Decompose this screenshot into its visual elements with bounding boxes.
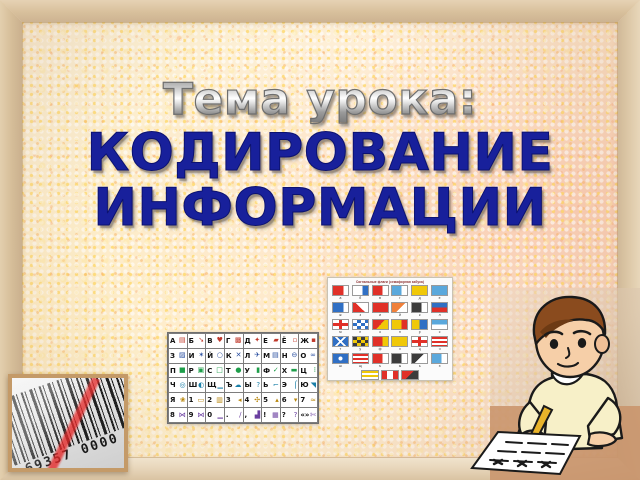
signal-flag-chart: Сигнальные флаги (семафорная азбука) абв… — [327, 277, 453, 381]
encoding-character: Й — [207, 352, 213, 360]
encoding-character: 1 — [189, 396, 194, 404]
encoding-cell: Е▰ — [262, 334, 281, 349]
flag-cell: х — [391, 336, 410, 352]
encoding-symbol-icon: ▫ — [293, 337, 298, 344]
encoding-symbol-icon: ▭ — [198, 397, 205, 404]
encoding-cell: 6▾ — [280, 393, 299, 408]
flag-cell: с — [430, 319, 449, 335]
encoding-symbol-icon: ▁ — [217, 412, 222, 419]
flag-cell: п — [391, 319, 410, 335]
encoding-symbol-icon: ≈ — [310, 397, 316, 404]
encoding-character: . — [226, 411, 229, 419]
encoding-character: Н — [282, 352, 288, 360]
encoding-character: Е — [263, 337, 268, 345]
encoding-cell: Й○ — [206, 348, 225, 363]
encoding-symbol-icon: ⁞ — [314, 367, 316, 374]
encoding-symbol-icon: ▨ — [179, 352, 186, 359]
flag-swatch-icon — [411, 302, 428, 313]
encoding-symbol-icon: ▤ — [179, 337, 186, 344]
encoding-cell: З▨ — [169, 348, 188, 363]
flag-swatch-icon — [431, 336, 448, 347]
flag-swatch-icon — [372, 353, 389, 364]
barcode-gloss — [12, 378, 124, 468]
title-line-2: ИНФОРМАЦИИ — [0, 181, 640, 236]
encoding-row: З▨И✶Й○К✕Л✈М▤Н⊖О∞ — [169, 348, 318, 363]
encoding-symbol-icon: ⊖ — [292, 352, 298, 359]
flag-grid: абвгдежзийклмнопрстуфхцчшщъыьэ — [331, 285, 449, 369]
flag-swatch-icon — [391, 336, 408, 347]
flag-cell: ъ — [371, 353, 390, 369]
encoding-character: К — [226, 352, 232, 360]
flag-label: к — [419, 313, 420, 318]
encoding-symbol-icon: ⋈ — [179, 412, 186, 419]
flag-label: с — [439, 330, 441, 335]
encoding-character: Б — [189, 337, 194, 345]
flag-swatch-icon — [352, 336, 369, 347]
flag-label: й — [399, 313, 401, 318]
encoding-character: М — [263, 352, 270, 360]
encoding-cell: Ь⌐ — [262, 378, 281, 393]
encoding-symbol-icon: ▁ — [217, 382, 222, 389]
encoding-cell: Щ▁ — [206, 378, 225, 393]
flag-label: и — [379, 313, 381, 318]
encoding-cell: Ч◎ — [169, 378, 188, 393]
flag-label: ц — [419, 347, 421, 352]
flag-swatch-icon — [401, 370, 419, 380]
flag-cell: ж — [331, 302, 350, 318]
flag-cell: ч — [430, 336, 449, 352]
encoding-cell: Т● — [224, 363, 243, 378]
encoding-character: Щ — [207, 381, 216, 389]
encoding-symbol-icon: ➘ — [198, 337, 204, 344]
flag-swatch-icon — [391, 285, 408, 296]
flag-label: н — [359, 330, 361, 335]
encoding-cell: Ф✓ — [262, 363, 281, 378]
encoding-character: З — [170, 352, 175, 360]
encoding-symbol-icon: ▰ — [273, 337, 278, 344]
title-eyebrow: Тема урока: — [163, 78, 477, 122]
flag-label: ф — [379, 347, 382, 352]
flag-swatch-icon — [381, 370, 399, 380]
frame-top-bevel — [0, 0, 640, 22]
encoding-cell: .∕ — [224, 408, 243, 423]
flag-cell: ц — [410, 336, 429, 352]
encoding-cell: Ё▫ — [280, 334, 299, 349]
flag-cell: д — [410, 285, 429, 301]
flag-cell: г — [391, 285, 410, 301]
encoding-cell: Ш◐ — [187, 378, 206, 393]
flag-swatch-icon — [361, 370, 379, 380]
flag-swatch-icon — [352, 302, 369, 313]
encoding-cell: Я❀ — [169, 393, 188, 408]
encoding-cell: У▮ — [243, 363, 262, 378]
flag-swatch-icon — [411, 319, 428, 330]
encoding-character: Ы — [245, 381, 252, 389]
title-main: КОДИРОВАНИЕ ИНФОРМАЦИИ — [0, 126, 640, 236]
encoding-cell: К✕ — [224, 348, 243, 363]
encoding-character: 7 — [300, 396, 305, 404]
encoding-symbol-icon: ■ — [179, 367, 186, 374]
flag-label: ь — [419, 364, 421, 369]
flag-swatch-icon — [391, 319, 408, 330]
flag-label: у — [359, 347, 361, 352]
encoding-symbol-icon: ◥ — [311, 382, 316, 389]
encoding-cell: Ц⁞ — [299, 363, 318, 378]
flag-swatch-icon — [431, 302, 448, 313]
title-line-1: КОДИРОВАНИЕ — [0, 126, 640, 181]
encoding-cell: 7≈ — [299, 393, 318, 408]
flag-label: л — [439, 313, 441, 318]
encoding-character: П — [170, 367, 176, 375]
flag-swatch-icon — [332, 302, 349, 313]
encoding-character: И — [189, 352, 195, 360]
encoding-character: ! — [263, 411, 266, 419]
encoding-character: Р — [189, 367, 194, 375]
flag-cell: ы — [391, 353, 410, 369]
encoding-row: А▤Б➘В♥Г▩Д✦Е▰Ё▫Ж▪ — [169, 334, 318, 349]
barcode-photo: 69357 0000 — [8, 374, 128, 472]
encoding-cell: А▤ — [169, 334, 188, 349]
encoding-cell: 2▥ — [206, 393, 225, 408]
encoding-cell: 0▁ — [206, 408, 225, 423]
slide-canvas: Тема урока: КОДИРОВАНИЕ ИНФОРМАЦИИ 69357… — [0, 0, 640, 480]
encoding-cell: Э⌠ — [280, 378, 299, 393]
flag-label: х — [399, 347, 401, 352]
flag-cell: э — [430, 353, 449, 369]
flag-label: щ — [359, 364, 362, 369]
flag-cell: щ — [351, 353, 370, 369]
encoding-cell: ?? — [280, 408, 299, 423]
flag-swatch-icon — [411, 285, 428, 296]
encoding-character: 4 — [245, 396, 250, 404]
flag-cell: и — [371, 302, 390, 318]
encoding-cell: В♥ — [206, 334, 225, 349]
encoding-symbol-icon: ▬ — [291, 367, 298, 374]
flag-cell: а — [331, 285, 350, 301]
encoding-symbol-icon: ⌐ — [273, 382, 279, 389]
title-block: Тема урока: КОДИРОВАНИЕ ИНФОРМАЦИИ — [0, 78, 640, 236]
flag-cell: т — [331, 336, 350, 352]
encoding-row: П■Р▣С□Т●У▮Ф✓Х▬Ц⁞ — [169, 363, 318, 378]
encoding-character: Х — [282, 367, 287, 375]
encoding-symbol-icon: ☁ — [235, 382, 242, 389]
encoding-character: 5 — [263, 396, 268, 404]
encoding-cell: Д✦ — [243, 334, 262, 349]
encoding-character: Л — [245, 352, 251, 360]
encoding-symbol-icon: ◎ — [180, 382, 186, 389]
encoding-symbol-icon: ◂ — [238, 397, 242, 404]
encoding-character: 0 — [207, 411, 212, 419]
flag-label: ы — [399, 364, 401, 369]
encoding-character: Ю — [300, 381, 308, 389]
encoding-character: 8 — [170, 411, 175, 419]
encoding-character: ? — [282, 411, 286, 419]
flag-footer-row — [331, 370, 449, 380]
encoding-cell: Ж▪ — [299, 334, 318, 349]
encoding-character: 6 — [282, 396, 287, 404]
encoding-symbol-icon: ⋈ — [197, 412, 204, 419]
encoding-character: У — [245, 367, 250, 375]
encoding-symbol-icon: ∕ — [239, 412, 241, 419]
flag-swatch-icon — [332, 319, 349, 330]
encoding-character: Ч — [170, 381, 176, 389]
encoding-cell: 9⋈ — [187, 408, 206, 423]
encoding-row: 8⋈9⋈0▁.∕,▟!▦??«»✄ — [169, 408, 318, 423]
flag-cell: м — [331, 319, 350, 335]
flag-swatch-icon — [332, 336, 349, 347]
flag-cell: ф — [371, 336, 390, 352]
flag-label: в — [379, 296, 381, 301]
paper-with-handwriting — [468, 428, 584, 478]
flag-cell: е — [430, 285, 449, 301]
encoding-cell: И✶ — [187, 348, 206, 363]
encoding-symbol-icon: ▟ — [255, 412, 260, 419]
encoding-symbol-icon: ▾ — [294, 397, 298, 404]
flag-cell — [381, 370, 399, 380]
flag-label: д — [419, 296, 421, 301]
encoding-symbol-icon: ✄ — [310, 412, 316, 419]
encoding-character: Ё — [282, 337, 287, 345]
encoding-symbol-icon: ● — [235, 367, 241, 374]
encoding-symbol-icon: ✓ — [273, 367, 279, 374]
flag-label: ч — [439, 347, 441, 352]
encoding-character: Ж — [300, 337, 309, 345]
encoding-character: Г — [226, 337, 230, 345]
encoding-character: 9 — [189, 411, 194, 419]
flag-cell: з — [351, 302, 370, 318]
encoding-symbol-icon: ❀ — [180, 397, 186, 404]
flag-label: ъ — [379, 364, 381, 369]
encoding-cell: Ю◥ — [299, 378, 318, 393]
flag-cell: о — [371, 319, 390, 335]
encoding-character: Д — [245, 337, 251, 345]
flag-cell — [361, 370, 379, 380]
flag-label: е — [439, 296, 441, 301]
encoding-symbol-icon: ▦ — [272, 412, 279, 419]
encoding-cell: ,▟ — [243, 408, 262, 423]
flag-cell: у — [351, 336, 370, 352]
encoding-cell: «»✄ — [299, 408, 318, 423]
flag-swatch-icon — [332, 285, 349, 296]
encoding-symbol-icon: ▩ — [235, 337, 242, 344]
flag-label: ш — [339, 364, 342, 369]
encoding-cell: Р▣ — [187, 363, 206, 378]
flag-label: ж — [339, 313, 341, 318]
encoding-grid: А▤Б➘В♥Г▩Д✦Е▰Ё▫Ж▪З▨И✶Й○К✕Л✈М▤Н⊖О∞П■Р▣С□Т●… — [168, 333, 318, 423]
flag-swatch-icon — [431, 353, 448, 364]
encoding-symbol-icon: ○ — [217, 352, 223, 359]
encoding-symbol-icon: ▪ — [311, 337, 316, 344]
flag-cell: н — [351, 319, 370, 335]
flag-cell: к — [410, 302, 429, 318]
flag-swatch-icon — [332, 353, 349, 364]
encoding-cell: 4✣ — [243, 393, 262, 408]
encoding-cell: 8⋈ — [169, 408, 188, 423]
encoding-character: Ш — [189, 381, 198, 389]
encoding-symbol-icon: ▣ — [198, 367, 205, 374]
flag-swatch-icon — [372, 319, 389, 330]
flag-swatch-icon — [431, 319, 448, 330]
flag-cell: б — [351, 285, 370, 301]
encoding-row: Ч◎Ш◐Щ▁Ъ☁Ы?Ь⌐Э⌠Ю◥ — [169, 378, 318, 393]
symbol-encoding-table: А▤Б➘В♥Г▩Д✦Е▰Ё▫Ж▪З▨И✶Й○К✕Л✈М▤Н⊖О∞П■Р▣С□Т●… — [167, 332, 319, 424]
flag-swatch-icon — [352, 353, 369, 364]
encoding-cell: Ы? — [243, 378, 262, 393]
encoding-character: Я — [170, 396, 175, 404]
encoding-symbol-icon: ◐ — [198, 382, 204, 389]
flag-cell: й — [391, 302, 410, 318]
flag-label: о — [379, 330, 381, 335]
encoding-character: «» — [300, 411, 309, 419]
encoding-symbol-icon: ∞ — [310, 352, 316, 359]
encoding-character: 2 — [207, 396, 212, 404]
encoding-character: О — [300, 352, 306, 360]
encoding-cell: Ъ☁ — [224, 378, 243, 393]
encoding-cell: 3◂ — [224, 393, 243, 408]
flag-cell — [401, 370, 419, 380]
flag-label: м — [339, 330, 341, 335]
encoding-cell: !▦ — [262, 408, 281, 423]
flag-cell: ь — [410, 353, 429, 369]
encoding-symbol-icon: ✶ — [198, 352, 204, 359]
encoding-cell: Л✈ — [243, 348, 262, 363]
flag-label: т — [340, 347, 342, 352]
encoding-symbol-icon: ? — [256, 382, 260, 389]
encoding-symbol-icon: ✣ — [254, 397, 260, 404]
encoding-character: Ф — [263, 367, 270, 375]
encoding-symbol-icon: ▴ — [275, 397, 279, 404]
encoding-cell: 5▴ — [262, 393, 281, 408]
encoding-cell: Н⊖ — [280, 348, 299, 363]
flag-label: э — [439, 364, 441, 369]
encoding-symbol-icon: ⌠ — [294, 382, 298, 389]
encoding-character: В — [207, 337, 212, 345]
encoding-cell: Х▬ — [280, 363, 299, 378]
flag-swatch-icon — [372, 336, 389, 347]
flag-cell: ш — [331, 353, 350, 369]
encoding-character: Ь — [263, 381, 268, 389]
flag-swatch-icon — [431, 285, 448, 296]
flag-label: р — [419, 330, 421, 335]
flag-swatch-icon — [372, 285, 389, 296]
encoding-symbol-icon: ▥ — [216, 397, 223, 404]
encoding-character: Т — [226, 367, 231, 375]
flag-swatch-icon — [352, 319, 369, 330]
flag-swatch-icon — [411, 353, 428, 364]
encoding-cell: О∞ — [299, 348, 318, 363]
flag-swatch-icon — [391, 302, 408, 313]
encoding-character: Ц — [300, 367, 307, 375]
flag-cell: в — [371, 285, 390, 301]
encoding-cell: М▤ — [262, 348, 281, 363]
encoding-cell: С□ — [206, 363, 225, 378]
flag-label: б — [359, 296, 361, 301]
flag-swatch-icon — [352, 285, 369, 296]
encoding-cell: Г▩ — [224, 334, 243, 349]
encoding-symbol-icon: ▤ — [272, 352, 279, 359]
encoding-symbol-icon: ✦ — [254, 337, 260, 344]
flag-swatch-icon — [391, 353, 408, 364]
encoding-character: С — [207, 367, 212, 375]
flag-label: г — [399, 296, 400, 301]
flag-swatch-icon — [372, 302, 389, 313]
encoding-character: Э — [282, 381, 287, 389]
encoding-symbol-icon: □ — [216, 367, 223, 374]
encoding-cell: 1▭ — [187, 393, 206, 408]
encoding-character: 3 — [226, 396, 231, 404]
encoding-character: Ъ — [226, 381, 233, 389]
flag-label: п — [399, 330, 401, 335]
encoding-character: , — [245, 411, 248, 419]
flag-swatch-icon — [411, 336, 428, 347]
flag-cell: р — [410, 319, 429, 335]
encoding-cell: Б➘ — [187, 334, 206, 349]
encoding-symbol-icon: ♥ — [217, 337, 223, 344]
flag-label: з — [359, 313, 361, 318]
encoding-character: А — [170, 337, 175, 345]
encoding-row: Я❀1▭2▥3◂4✣5▴6▾7≈ — [169, 393, 318, 408]
flag-cell: л — [430, 302, 449, 318]
barcode-surface: 69357 0000 — [12, 378, 124, 468]
encoding-symbol-icon: ✕ — [236, 352, 242, 359]
encoding-symbol-icon: ✈ — [254, 352, 260, 359]
encoding-symbol-icon: ? — [294, 412, 298, 419]
flag-label: а — [339, 296, 341, 301]
encoding-symbol-icon: ▮ — [256, 367, 260, 374]
encoding-cell: П■ — [169, 363, 188, 378]
